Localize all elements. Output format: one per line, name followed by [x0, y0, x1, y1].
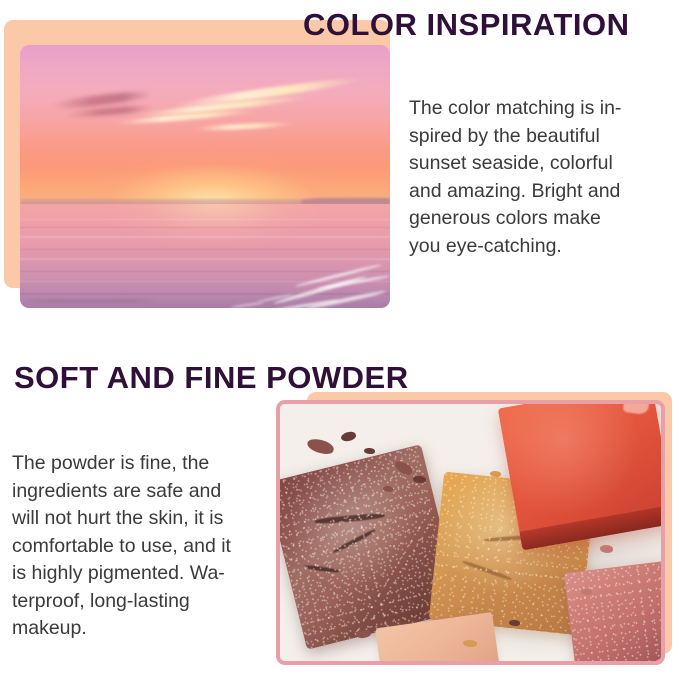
section-heading-soft-and-fine-powder: SOFT AND FINE POWDER	[14, 359, 409, 397]
product-feature-page: COLOR INSPIRATION The color matching is …	[0, 0, 679, 679]
wave-foam	[231, 302, 264, 308]
section-body-color-inspiration: The color matching is in- spired by the …	[409, 95, 671, 260]
sunset-seaside-photo	[20, 45, 390, 308]
section-heading-color-inspiration: COLOR INSPIRATION	[303, 6, 630, 44]
sunset-sky	[20, 45, 390, 205]
crushed-eyeshadow-powder-photo	[276, 400, 665, 665]
sea-water	[20, 204, 390, 308]
eyeshadow-pan-red-coral-matte	[497, 404, 661, 550]
eyeshadow-pan-pink-glitter	[563, 559, 661, 661]
section-body-soft-and-fine-powder: The powder is fine, the ingredients are …	[12, 450, 274, 643]
